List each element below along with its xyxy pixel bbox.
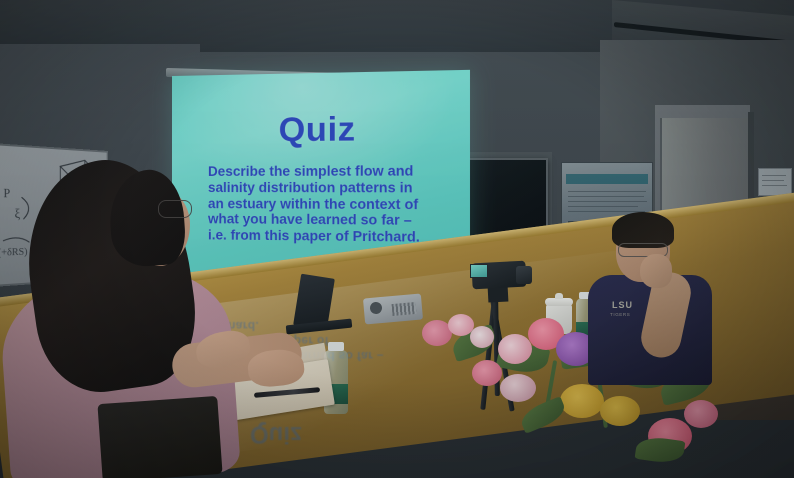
- man-hand: [640, 254, 672, 288]
- whiteboard-scribble-3: (+δRS): [0, 246, 27, 259]
- slide-body: Describe the simplest flow and salinity …: [208, 163, 448, 246]
- classroom-photo: P ξ (+δRS): [0, 0, 794, 478]
- chair: [97, 396, 222, 478]
- slide-body-line: Describe the simplest flow and: [208, 163, 448, 180]
- camera-lcd-screen: [470, 264, 488, 278]
- wall-notice-1: [758, 168, 792, 196]
- slide-body-line: an estuary within the context of: [208, 196, 448, 213]
- mug-lid: [545, 298, 573, 306]
- man-shirt-logo: LSU: [612, 300, 646, 311]
- bottle-cap: [328, 342, 344, 351]
- slide-title: Quiz: [172, 108, 470, 150]
- slide-body-line: salinity distribution patterns in: [208, 180, 448, 197]
- camera-lens: [516, 266, 532, 284]
- poster-title-band: [566, 174, 648, 184]
- projector-vent: [392, 302, 417, 316]
- slide-body-line: what you have learned so far –: [208, 212, 448, 230]
- woman-glasses: [158, 200, 192, 218]
- whiteboard-scribble-1: P: [3, 185, 10, 201]
- mug-knob: [555, 293, 563, 299]
- whiteboard-scribble-2: ξ: [15, 207, 21, 223]
